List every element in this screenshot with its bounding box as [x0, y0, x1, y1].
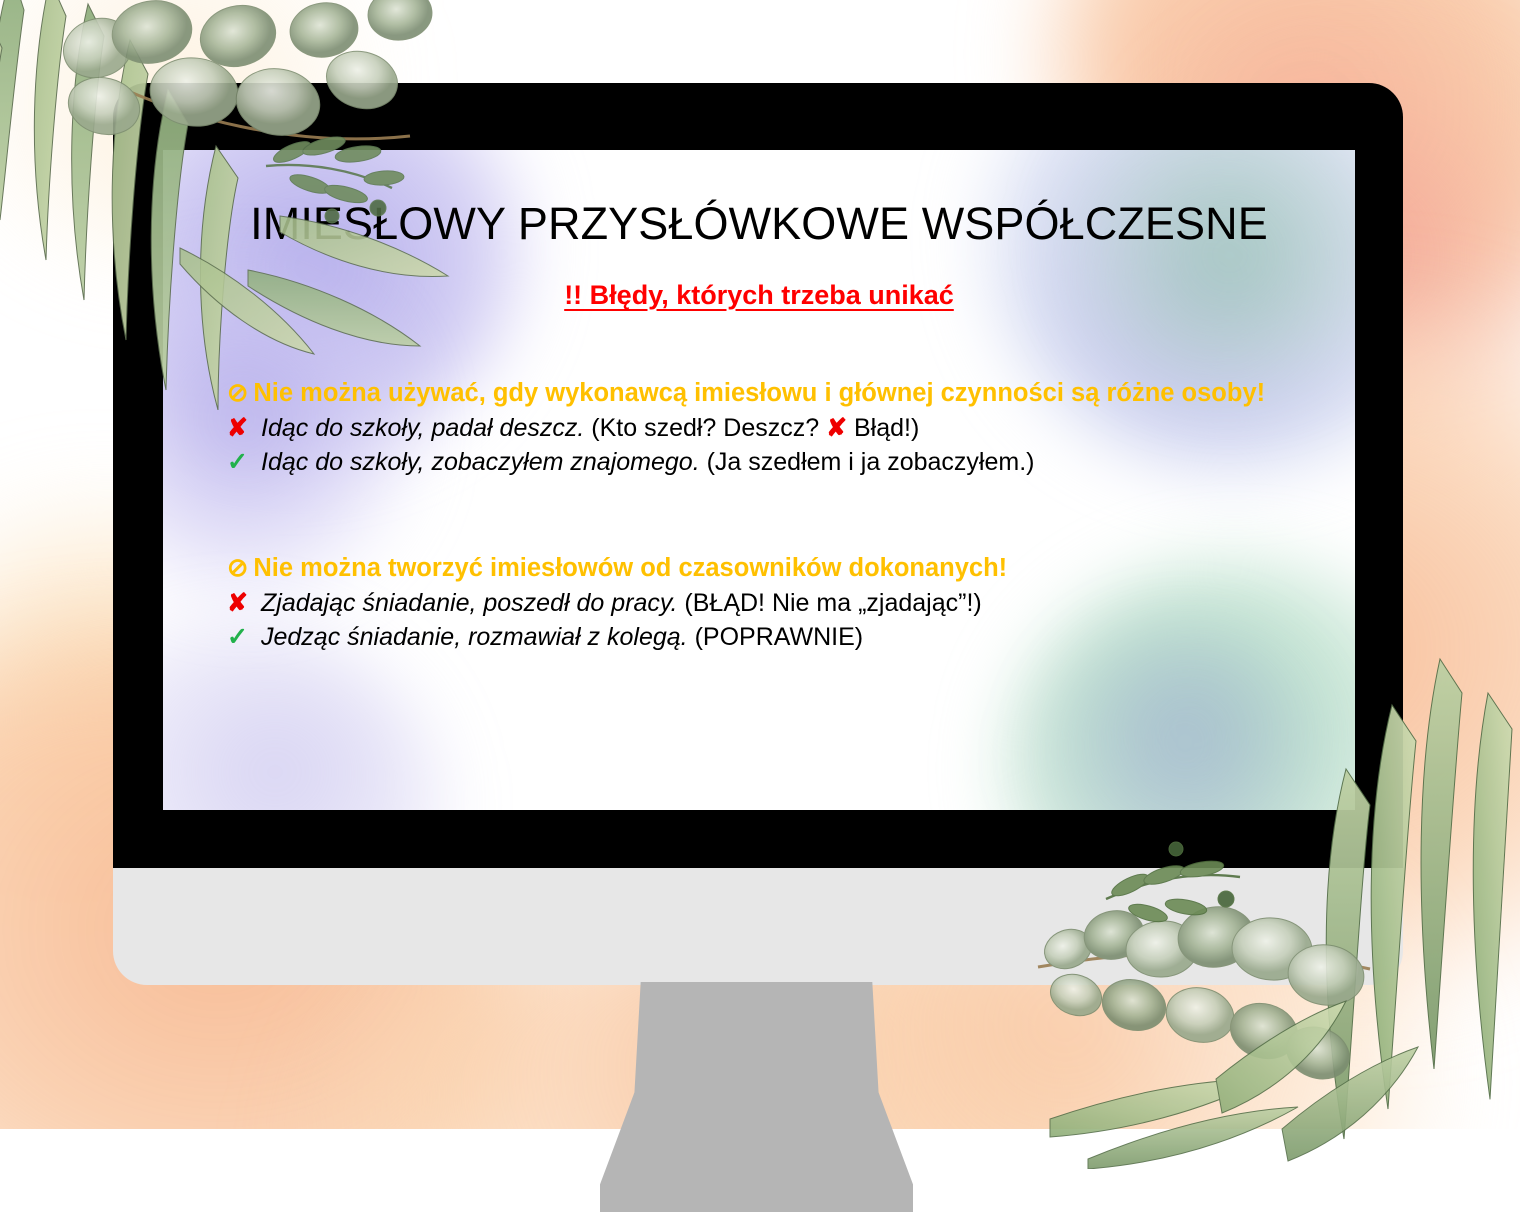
example-italic-text: Jedząc śniadanie, rozmawiał z kolegą. [261, 623, 688, 651]
rule-block: ⊘Nie można używać, gdy wykonawcą imiesło… [227, 377, 1315, 479]
monitor-stand [600, 982, 913, 1212]
computer-monitor: IMIESŁOWY PRZYSŁÓWKOWE WSPÓŁCZESNE !! Bł… [113, 83, 1403, 1129]
rule-heading: ⊘Nie można tworzyć imiesłowów od czasown… [227, 552, 1315, 585]
no-entry-icon: ⊘ [227, 379, 248, 407]
example-italic-text: Zjadając śniadanie, poszedł do pracy. [261, 589, 677, 617]
check-mark-icon: ✓ [227, 446, 261, 480]
slide-title: IMIESŁOWY PRZYSŁÓWKOWE WSPÓŁCZESNE [163, 198, 1355, 250]
example-explanation-text: (BŁĄD! Nie ma „zjadając”!) [677, 589, 981, 617]
example-italic-text: Idąc do szkoły, zobaczyłem znajomego. [261, 448, 700, 476]
example-explanation-text: (Ja szedłem i ja zobaczyłem.) [700, 448, 1035, 476]
example-line: ✘Zjadając śniadanie, poszedł do pracy. (… [227, 587, 1315, 621]
example-italic-text: Idąc do szkoły, padał deszcz. [261, 414, 584, 442]
rule-heading-text: Nie można używać, gdy wykonawcą imiesłow… [253, 379, 1265, 407]
example-explanation-text: (Kto szedł? Deszcz? [584, 414, 826, 442]
example-line: ✓Idąc do szkoły, zobaczyłem znajomego. (… [227, 446, 1315, 480]
cross-mark-icon: ✘ [227, 587, 261, 621]
example-line: ✓Jedząc śniadanie, rozmawiał z kolegą. (… [227, 621, 1315, 655]
cross-mark-icon: ✘ [227, 412, 261, 446]
rule-heading: ⊘Nie można używać, gdy wykonawcą imiesło… [227, 377, 1315, 410]
rule-blocks: ⊘Nie można używać, gdy wykonawcą imiesło… [227, 377, 1315, 654]
example-explanation-tail: Błąd!) [847, 414, 919, 442]
check-mark-icon: ✓ [227, 621, 261, 655]
monitor-base [113, 868, 1403, 985]
rule-block: ⊘Nie można tworzyć imiesłowów od czasown… [227, 552, 1315, 654]
monitor-screen: IMIESŁOWY PRZYSŁÓWKOWE WSPÓŁCZESNE !! Bł… [163, 150, 1355, 810]
example-explanation-text: (POPRAWNIE) [688, 623, 863, 651]
slide-subtitle: !! Błędy, których trzeba unikać [163, 280, 1355, 311]
rule-heading-text: Nie można tworzyć imiesłowów od czasowni… [253, 554, 1007, 582]
no-entry-icon: ⊘ [227, 554, 248, 582]
inline-cross-mark-icon: ✘ [826, 414, 847, 442]
slide-content: IMIESŁOWY PRZYSŁÓWKOWE WSPÓŁCZESNE !! Bł… [163, 150, 1355, 810]
example-line: ✘Idąc do szkoły, padał deszcz. (Kto szed… [227, 412, 1315, 446]
